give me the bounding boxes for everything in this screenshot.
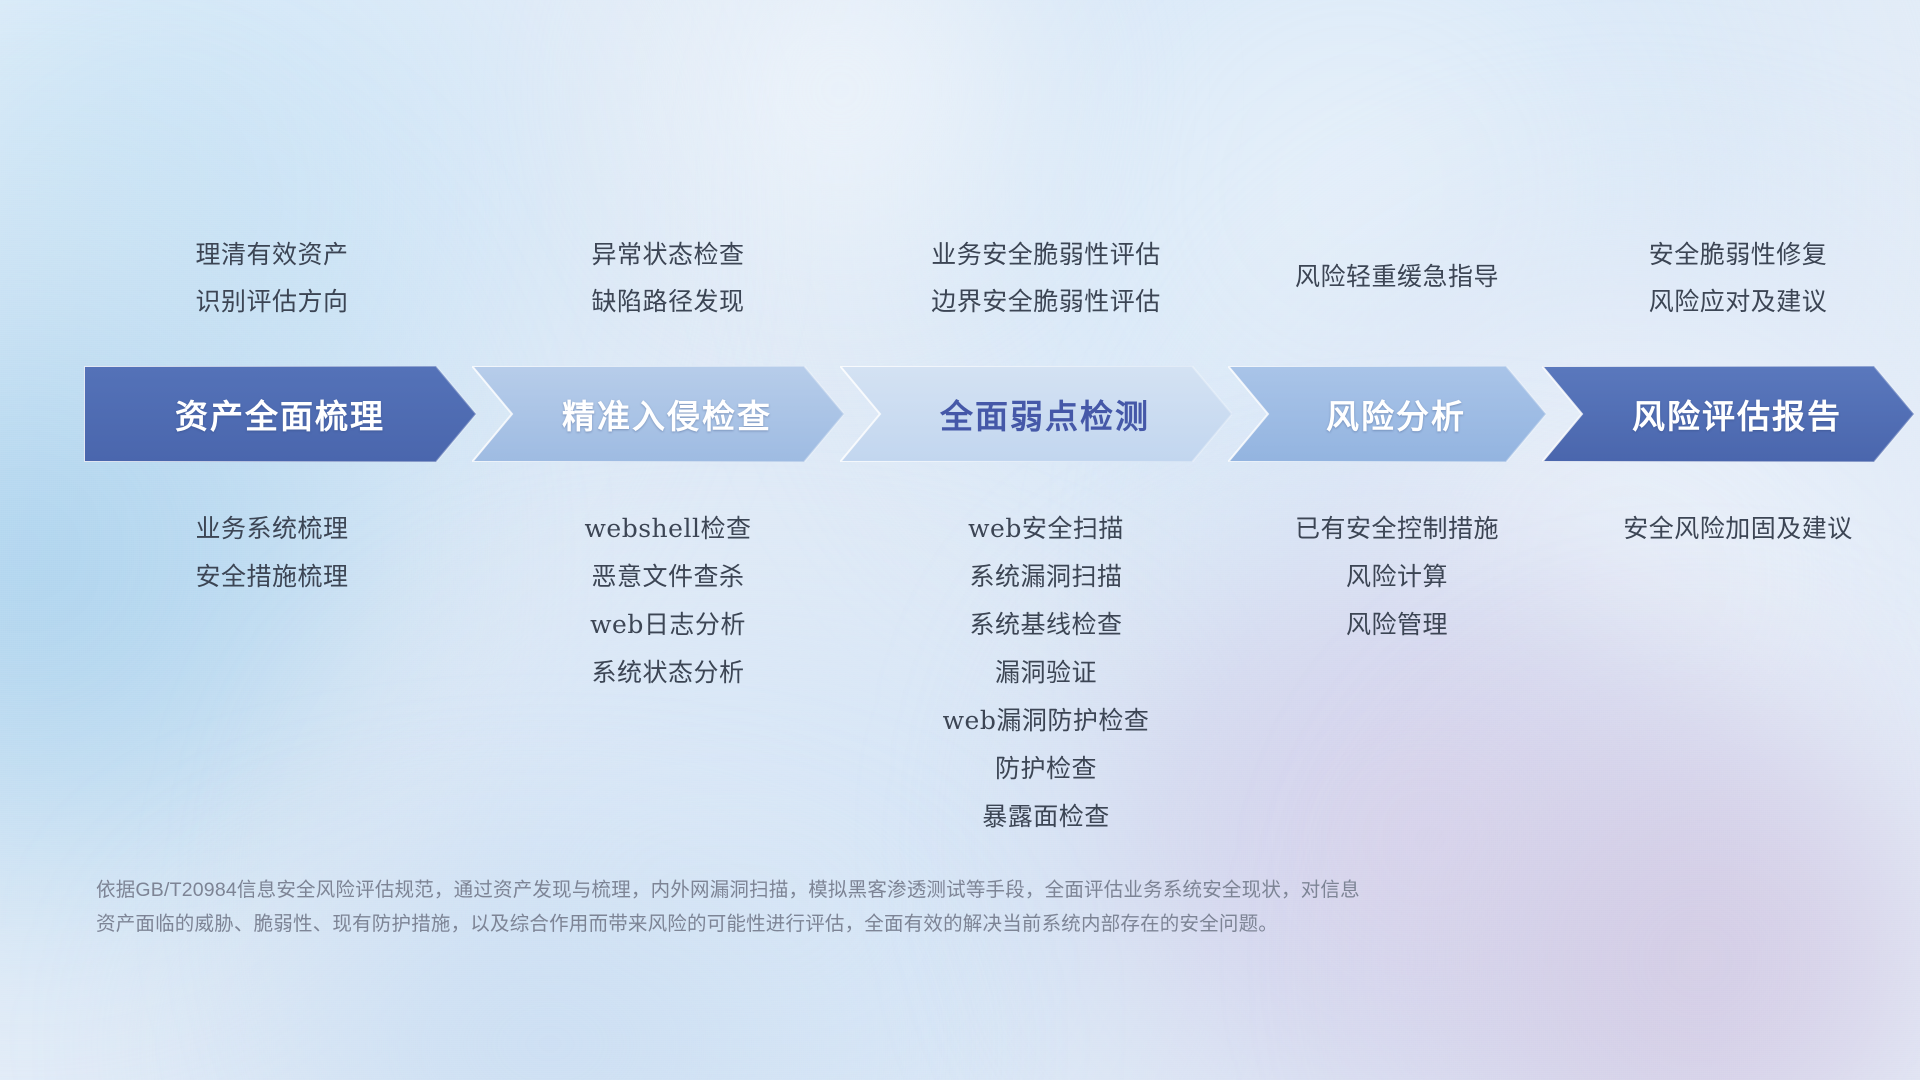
bottom-activity-item: web漏洞防护检查 [816, 697, 1276, 745]
bottom-activity-item: 风险管理 [1167, 601, 1627, 649]
bottom-activity-item: 漏洞验证 [816, 649, 1276, 697]
top-outcome-column-report: 安全脆弱性修复风险应对及建议 [1508, 232, 1920, 326]
top-outcome-column-asset: 理清有效资产识别评估方向 [42, 232, 502, 326]
footer-line-1: 依据GB/T20984信息安全风险评估规范，通过资产发现与梳理，内外网漏洞扫描，… [96, 873, 1616, 907]
bottom-activity-item: 暴露面检查 [816, 793, 1276, 841]
bottom-activity-item: 安全风险加固及建议 [1508, 505, 1920, 553]
bottom-activity-column-report: 安全风险加固及建议 [1508, 505, 1920, 553]
bottom-activity-item: 业务系统梳理 [42, 505, 502, 553]
process-chevron-band: 资产全面梳理精准入侵检查全面弱点检测风险分析风险评估报告 [84, 366, 1846, 462]
top-outcome-item: 识别评估方向 [42, 279, 502, 326]
process-step-label: 精准入侵检查 [562, 390, 772, 438]
process-step-riskanalysis[interactable]: 风险分析 [1228, 366, 1546, 462]
bottom-activity-column-asset: 业务系统梳理安全措施梳理 [42, 505, 502, 601]
process-step-report[interactable]: 风险评估报告 [1542, 366, 1914, 462]
top-outcome-item: 安全脆弱性修复 [1508, 232, 1920, 279]
process-diagram: 理清有效资产识别评估方向异常状态检查缺陷路径发现业务安全脆弱性评估边界安全脆弱性… [0, 0, 1920, 1080]
process-step-label: 资产全面梳理 [175, 390, 385, 438]
bottom-activity-item: 防护检查 [816, 745, 1276, 793]
footer-line-2: 资产面临的威胁、脆弱性、现有防护措施，以及综合作用而带来风险的可能性进行评估，全… [96, 907, 1616, 941]
process-step-label: 风险分析 [1326, 390, 1466, 438]
top-outcome-item: 风险应对及建议 [1508, 279, 1920, 326]
process-step-label: 风险评估报告 [1632, 390, 1842, 438]
process-step-intrusion[interactable]: 精准入侵检查 [472, 366, 844, 462]
process-step-label: 全面弱点检测 [940, 390, 1150, 438]
top-outcomes-row: 理清有效资产识别评估方向异常状态检查缺陷路径发现业务安全脆弱性评估边界安全脆弱性… [0, 232, 1920, 322]
bottom-activity-item: 风险计算 [1167, 553, 1627, 601]
bottom-activity-item: 安全措施梳理 [42, 553, 502, 601]
process-step-asset[interactable]: 资产全面梳理 [84, 366, 476, 462]
footer-description: 依据GB/T20984信息安全风险评估规范，通过资产发现与梳理，内外网漏洞扫描，… [96, 873, 1616, 941]
process-step-weakpoint[interactable]: 全面弱点检测 [840, 366, 1232, 462]
top-outcome-item: 理清有效资产 [42, 232, 502, 279]
